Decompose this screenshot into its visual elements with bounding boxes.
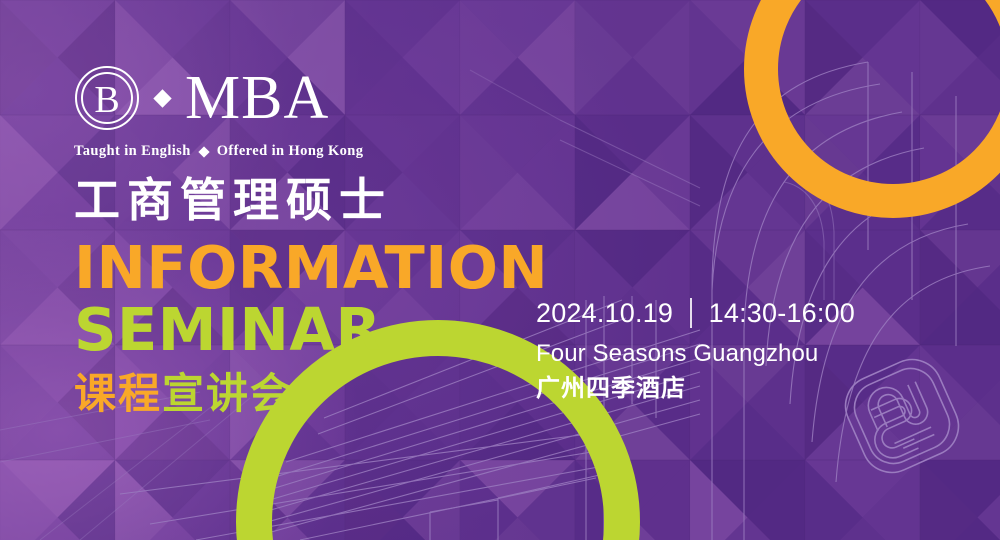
orange-ring-arc [744,0,1000,218]
headline-line-1: INFORMATION [74,238,544,298]
logo-lockup: B MBA [74,62,544,134]
event-time: 14:30-16:00 [709,296,855,330]
headline-zh: 课程宣讲会 [74,370,544,418]
separator-diamond-icon [153,89,171,107]
venue-name-zh: 广州四季酒店 [536,372,956,404]
tagline-right-text: Offered in Hong Kong [217,143,364,160]
brand-block: B MBA Taught in English Offered in Hong … [74,62,544,418]
event-datetime: 2024.10.19 14:30-16:00 [536,296,956,330]
venue-name-en: Four Seasons Guangzhou [536,338,956,370]
tagline-diamond-icon [198,146,209,157]
seminar-banner: B MBA Taught in English Offered in Hong … [0,0,1000,540]
svg-text:B: B [94,79,119,121]
headline-zh-orange: 课程 [74,369,162,418]
headline-line-2: SEMINAR [74,300,544,360]
program-title-zh: 工商管理硕士 [74,174,544,226]
brand-tagline: Taught in English Offered in Hong Kong [74,143,544,160]
event-details: 2024.10.19 14:30-16:00 Four Seasons Guan… [536,296,956,404]
event-date: 2024.10.19 [536,296,673,330]
b-monogram-icon: B [74,65,140,131]
datetime-divider [690,298,692,328]
tagline-left-text: Taught in English [74,143,191,160]
headline-zh-green: 宣讲会 [162,369,294,418]
mba-wordmark: MBA [185,67,329,129]
